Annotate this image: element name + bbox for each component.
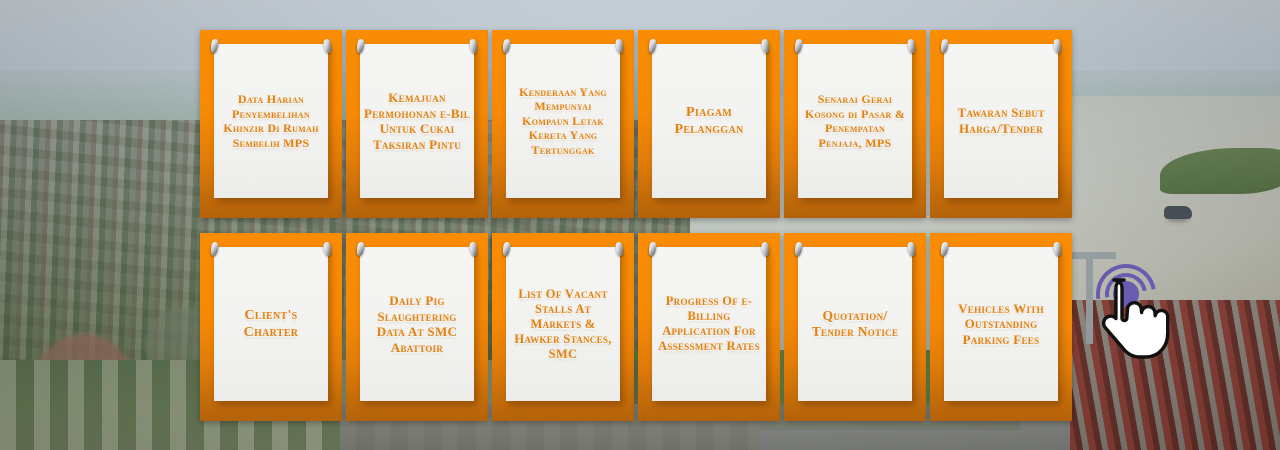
pin-icon (615, 39, 624, 54)
card-title: Kenderaan Yang Mempunyai Kompaun Letak K… (506, 85, 620, 158)
pin-icon (502, 242, 511, 257)
pin-icon (648, 39, 657, 54)
pin-icon (761, 242, 770, 257)
pin-icon (356, 39, 365, 54)
pin-icon (907, 242, 916, 257)
card-title: Vehicles With Outstanding Parking Fees (944, 301, 1058, 348)
card-title: List Of Vacant Stalls At Markets & Hawke… (506, 287, 620, 362)
pin-icon (761, 39, 770, 54)
pin-icon (323, 39, 332, 54)
card-paper: Vehicles With Outstanding Parking Fees (944, 247, 1058, 401)
pin-icon (356, 242, 365, 257)
pin-icon (469, 242, 478, 257)
pin-icon (940, 242, 949, 257)
card-paper: Kemajuan Permohonan e-Bil Untuk Cukai Ta… (360, 44, 474, 198)
card-paper: Progress Of e-Billing Application For As… (652, 247, 766, 401)
service-card-quotation-tender-notice[interactable]: Quotation/ Tender Notice (784, 233, 926, 421)
service-card-grid: Data Harian Penyembelihan Khinzir Di Rum… (200, 30, 1078, 418)
pin-icon (323, 242, 332, 257)
service-card-vehicles-outstanding-parking-fees[interactable]: Vehicles With Outstanding Parking Fees (930, 233, 1072, 421)
card-title: Tawaran Sebut Harga/Tender (944, 105, 1058, 137)
pin-icon (210, 39, 219, 54)
card-paper: List Of Vacant Stalls At Markets & Hawke… (506, 247, 620, 401)
card-title: Kemajuan Permohonan e-Bil Untuk Cukai Ta… (360, 90, 474, 152)
pin-icon (1053, 242, 1062, 257)
service-card-tawaran-sebut-harga-tender[interactable]: Tawaran Sebut Harga/Tender (930, 30, 1072, 218)
page-root: Data Harian Penyembelihan Khinzir Di Rum… (0, 0, 1280, 450)
card-paper: Quotation/ Tender Notice (798, 247, 912, 401)
card-title: Client's Charter (214, 307, 328, 341)
card-paper: Daily Pig Slaughtering Data At SMC Abatt… (360, 247, 474, 401)
pin-icon (502, 39, 511, 54)
card-title: Daily Pig Slaughtering Data At SMC Abatt… (360, 293, 474, 355)
service-card-daily-pig-slaughtering-data[interactable]: Daily Pig Slaughtering Data At SMC Abatt… (346, 233, 488, 421)
pin-icon (1053, 39, 1062, 54)
card-paper: Kenderaan Yang Mempunyai Kompaun Letak K… (506, 44, 620, 198)
pin-icon (940, 39, 949, 54)
card-paper: Piagam Pelanggan (652, 44, 766, 198)
service-card-list-of-vacant-stalls[interactable]: List Of Vacant Stalls At Markets & Hawke… (492, 233, 634, 421)
card-title: Senarai Gerai Kosong di Pasar & Penempat… (798, 92, 912, 150)
service-card-clients-charter[interactable]: Client's Charter (200, 233, 342, 421)
pin-icon (794, 242, 803, 257)
pin-icon (794, 39, 803, 54)
card-paper: Data Harian Penyembelihan Khinzir Di Rum… (214, 44, 328, 198)
pin-icon (907, 39, 916, 54)
service-card-kemajuan-permohonan-ebil[interactable]: Kemajuan Permohonan e-Bil Untuk Cukai Ta… (346, 30, 488, 218)
service-card-kenderaan-kompaun-letak-kereta[interactable]: Kenderaan Yang Mempunyai Kompaun Letak K… (492, 30, 634, 218)
service-card-data-harian-penyembelihan[interactable]: Data Harian Penyembelihan Khinzir Di Rum… (200, 30, 342, 218)
card-title: Data Harian Penyembelihan Khinzir Di Rum… (214, 92, 328, 150)
pin-icon (648, 242, 657, 257)
card-row-1: Data Harian Penyembelihan Khinzir Di Rum… (200, 30, 1078, 218)
card-row-2: Client's Charter Daily Pig Slaughtering … (200, 233, 1078, 421)
service-card-senarai-gerai-kosong[interactable]: Senarai Gerai Kosong di Pasar & Penempat… (784, 30, 926, 218)
card-paper: Tawaran Sebut Harga/Tender (944, 44, 1058, 198)
pin-icon (615, 242, 624, 257)
card-paper: Senarai Gerai Kosong di Pasar & Penempat… (798, 44, 912, 198)
card-title: Quotation/ Tender Notice (798, 308, 912, 340)
service-card-progress-of-ebilling-application[interactable]: Progress Of e-Billing Application For As… (638, 233, 780, 421)
service-card-piagam-pelanggan[interactable]: Piagam Pelanggan (638, 30, 780, 218)
card-title: Piagam Pelanggan (652, 104, 766, 138)
pin-icon (210, 242, 219, 257)
card-title: Progress Of e-Billing Application For As… (652, 294, 766, 354)
card-paper: Client's Charter (214, 247, 328, 401)
pin-icon (469, 39, 478, 54)
